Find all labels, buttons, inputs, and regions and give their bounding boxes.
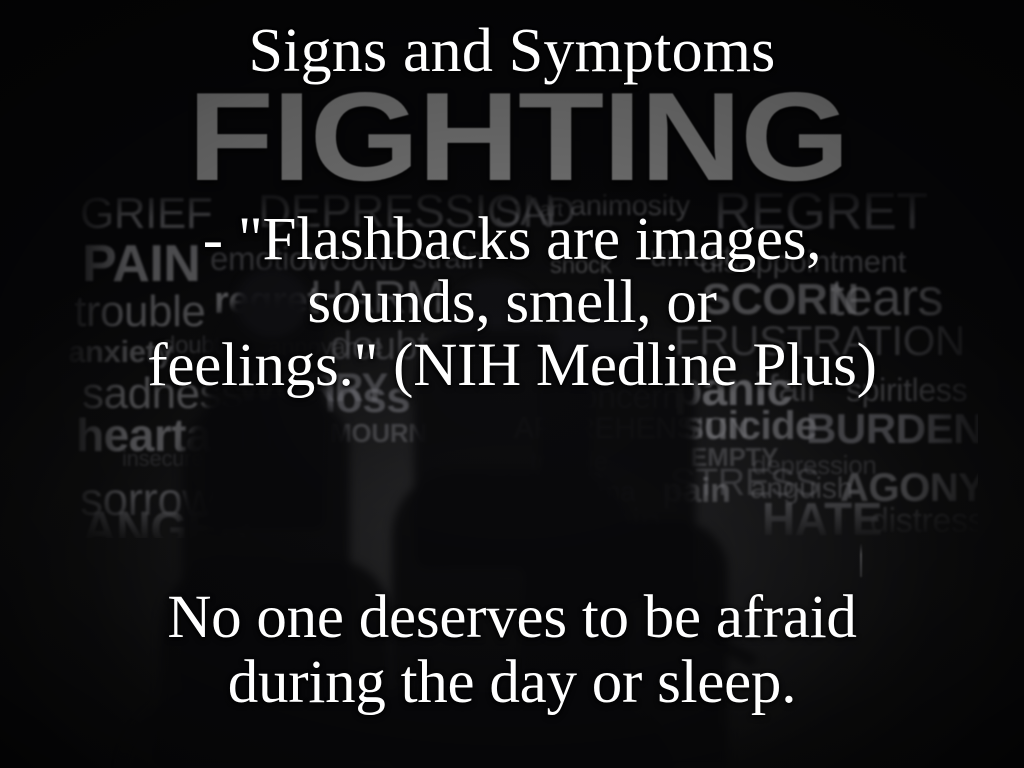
slide-title: Signs and Symptoms — [0, 18, 1024, 85]
presentation-slide: FIGHTING GRIEFDEPRESSIONSADartanimosityR… — [0, 0, 1024, 768]
quote-block: - "Flashbacks are images, sounds, smell,… — [40, 208, 984, 397]
closing-statement-block: No one deserves to be afraid during the … — [36, 586, 988, 715]
quote-line-1: - "Flashbacks are images, — [40, 208, 984, 271]
closing-line-2: during the day or sleep. — [36, 651, 988, 716]
quote-line-2: sounds, smell, or — [40, 271, 984, 334]
quote-line-3: feelings." (NIH Medline Plus) — [40, 334, 984, 397]
closing-line-1: No one deserves to be afraid — [36, 586, 988, 651]
slide-content: Signs and Symptoms - "Flashbacks are ima… — [0, 0, 1024, 768]
